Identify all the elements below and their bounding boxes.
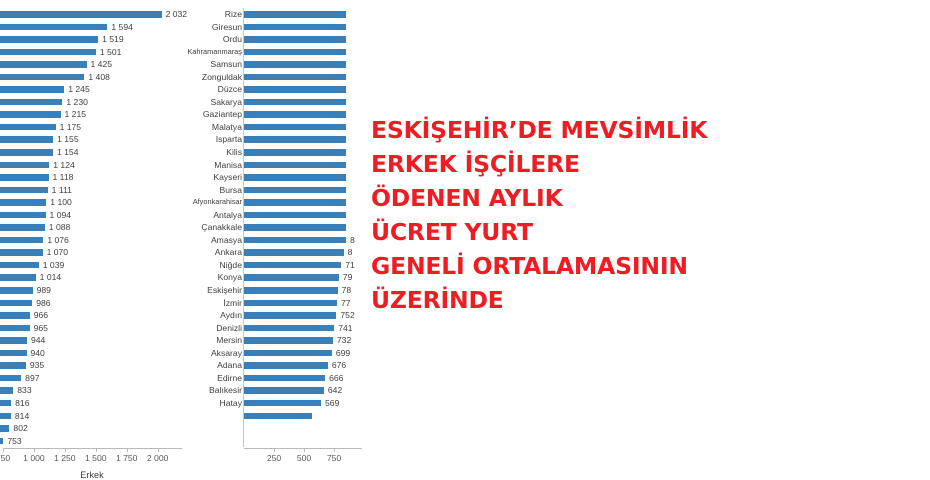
kadin-value-label: 666 xyxy=(329,372,343,385)
category-label: Bursa xyxy=(176,184,246,197)
category-label: Kilis xyxy=(176,146,246,159)
erkek-bar xyxy=(0,49,96,56)
erkek-bar-row: 802 xyxy=(0,422,200,435)
kadin-value-label: 732 xyxy=(337,334,351,347)
erkek-value-label: 1 501 xyxy=(100,46,122,59)
kadin-bar xyxy=(244,274,339,281)
erkek-value-label: 940 xyxy=(31,347,45,360)
erkek-bar-row: 940 xyxy=(0,347,200,360)
erkek-bar-row: 814 xyxy=(0,410,200,423)
kadin-value-label: 8 xyxy=(348,246,353,259)
erkek-bar-row: 816 xyxy=(0,397,200,410)
kadin-bar xyxy=(244,149,346,156)
erkek-value-label: 1 245 xyxy=(68,83,90,96)
erkek-bar-row: 1 408 xyxy=(0,71,200,84)
erkek-bar xyxy=(0,262,39,269)
erkek-x-tick xyxy=(158,449,159,452)
erkek-x-tick xyxy=(96,449,97,452)
erkek-x-tick xyxy=(127,449,128,452)
kadin-x-tick-label: 250 xyxy=(267,453,281,463)
bar-chart-erkek: 2 0321 5941 5191 5011 4251 4081 2451 230… xyxy=(0,0,200,459)
category-label: Antalya xyxy=(176,209,246,222)
category-label: Kayseri xyxy=(176,171,246,184)
erkek-bar xyxy=(0,24,107,31)
kadin-value-label: 699 xyxy=(336,347,350,360)
kadin-value-label: 77 xyxy=(341,297,351,310)
erkek-bar-row: 1 094 xyxy=(0,209,200,222)
category-label: İzmir xyxy=(176,297,246,310)
erkek-bar xyxy=(0,287,33,294)
erkek-value-label: 753 xyxy=(7,435,21,448)
kadin-bar xyxy=(244,249,344,256)
kadin-bar xyxy=(244,237,346,244)
kadin-x-tick-label: 500 xyxy=(297,453,311,463)
erkek-bar-row: 1 070 xyxy=(0,246,200,259)
category-label: Manisa xyxy=(176,159,246,172)
erkek-bar-row: 1 118 xyxy=(0,171,200,184)
erkek-bar xyxy=(0,237,43,244)
erkek-value-label: 1 094 xyxy=(50,209,72,222)
erkek-value-label: 814 xyxy=(15,410,29,423)
category-label: Adana xyxy=(176,359,246,372)
kadin-x-axis: 250500750 xyxy=(244,448,362,449)
kadin-value-label: 676 xyxy=(332,359,346,372)
kadin-bar xyxy=(244,337,333,344)
kadin-bar xyxy=(244,199,346,206)
kadin-bar xyxy=(244,61,346,68)
kadin-bar xyxy=(244,413,312,420)
kadin-bar xyxy=(244,325,334,332)
headline-line: ÜZERİNDE xyxy=(371,283,771,317)
erkek-value-label: 1 014 xyxy=(40,271,62,284)
erkek-value-label: 833 xyxy=(17,384,31,397)
category-label: Afyonkarahisar xyxy=(176,196,246,209)
erkek-bar xyxy=(0,387,13,394)
kadin-bar xyxy=(244,124,346,131)
erkek-bar xyxy=(0,187,48,194)
category-label: Aydın xyxy=(176,309,246,322)
erkek-bar-row: 944 xyxy=(0,334,200,347)
kadin-value-label: 79 xyxy=(343,271,353,284)
erkek-bar xyxy=(0,350,27,357)
category-label: Çanakkale xyxy=(176,221,246,234)
headline-line: ÜCRET YURT xyxy=(371,215,771,249)
erkek-bar xyxy=(0,61,87,68)
kadin-bar xyxy=(244,24,346,31)
erkek-value-label: 1 594 xyxy=(111,21,133,34)
erkek-bar xyxy=(0,400,11,407)
headline-line: ERKEK İŞÇİLERE xyxy=(371,147,771,181)
category-label: Denizli xyxy=(176,322,246,335)
category-label: Aksaray xyxy=(176,347,246,360)
kadin-bar xyxy=(244,300,337,307)
category-label: Eskişehir xyxy=(176,284,246,297)
erkek-bar-row: 966 xyxy=(0,309,200,322)
erkek-bar-row: 1 014 xyxy=(0,271,200,284)
erkek-x-tick xyxy=(34,449,35,452)
erkek-value-label: 802 xyxy=(13,422,27,435)
kadin-bar xyxy=(244,400,321,407)
erkek-bar xyxy=(0,162,49,169)
erkek-bar-row: 1 501 xyxy=(0,46,200,59)
erkek-x-tick-label: 1 250 xyxy=(54,453,76,463)
erkek-value-label: 1 408 xyxy=(88,71,110,84)
category-label: Malatya xyxy=(176,121,246,134)
erkek-value-label: 986 xyxy=(36,297,50,310)
erkek-value-label: 1 175 xyxy=(60,121,82,134)
erkek-bar xyxy=(0,375,21,382)
kadin-value-label: 569 xyxy=(325,397,339,410)
erkek-bar xyxy=(0,199,46,206)
erkek-bar xyxy=(0,11,162,18)
kadin-x-tick xyxy=(334,449,335,452)
erkek-value-label: 897 xyxy=(25,372,39,385)
infographic-root: 2 0321 5941 5191 5011 4251 4081 2451 230… xyxy=(0,0,930,459)
category-label: Zonguldak xyxy=(176,71,246,84)
kadin-bar xyxy=(244,350,332,357)
erkek-bar-row: 753 xyxy=(0,435,200,448)
kadin-bar xyxy=(244,387,324,394)
erkek-value-label: 1 154 xyxy=(57,146,79,159)
erkek-bar-row: 1 155 xyxy=(0,133,200,146)
kadin-bar xyxy=(244,224,346,231)
erkek-bar-row: 1 245 xyxy=(0,83,200,96)
erkek-value-label: 1 039 xyxy=(43,259,65,272)
category-label: Ankara xyxy=(176,246,246,259)
erkek-bar xyxy=(0,74,84,81)
erkek-x-tick xyxy=(3,449,4,452)
category-label: Sakarya xyxy=(176,96,246,109)
headline-line: ÖDENEN AYLIK xyxy=(371,181,771,215)
erkek-bar-row: 897 xyxy=(0,372,200,385)
category-label: Giresun xyxy=(176,21,246,34)
erkek-bar-row: 1 594 xyxy=(0,21,200,34)
kadin-bar xyxy=(244,74,346,81)
erkek-bar xyxy=(0,274,36,281)
erkek-value-label: 1 118 xyxy=(53,171,74,184)
kadin-bar xyxy=(244,86,346,93)
kadin-bar xyxy=(244,174,346,181)
category-label: Mersin xyxy=(176,334,246,347)
erkek-x-tick xyxy=(65,449,66,452)
erkek-bar xyxy=(0,413,11,420)
kadin-value-label: 71 xyxy=(345,259,355,272)
category-label: Amasya xyxy=(176,234,246,247)
category-label: Hatay xyxy=(176,397,246,410)
kadin-bar xyxy=(244,375,325,382)
kadin-bar xyxy=(244,36,346,43)
erkek-value-label: 1 088 xyxy=(49,221,71,234)
kadin-bar xyxy=(244,49,346,56)
kadin-bar xyxy=(244,362,328,369)
erkek-bar xyxy=(0,300,32,307)
erkek-value-label: 965 xyxy=(34,322,48,335)
category-label: Ordu xyxy=(176,33,246,46)
kadin-bar xyxy=(244,287,338,294)
erkek-bar-row: 1 111 xyxy=(0,184,200,197)
erkek-bar-row: 1 076 xyxy=(0,234,200,247)
erkek-value-label: 1 425 xyxy=(91,58,113,71)
erkek-bar-row: 1 088 xyxy=(0,221,200,234)
erkek-bar-row: 989 xyxy=(0,284,200,297)
erkek-bar xyxy=(0,212,46,219)
kadin-bar xyxy=(244,212,346,219)
category-label: Rize xyxy=(176,8,246,21)
kadin-x-tick-label: 750 xyxy=(327,453,341,463)
kadin-value-label: 8 xyxy=(350,234,355,247)
erkek-value-label: 1 070 xyxy=(47,246,69,259)
kadin-value-label: 741 xyxy=(338,322,352,335)
category-label: Edirne xyxy=(176,372,246,385)
erkek-bar xyxy=(0,312,30,319)
kadin-value-label: 78 xyxy=(342,284,352,297)
erkek-value-label: 966 xyxy=(34,309,48,322)
category-label: Niğde xyxy=(176,259,246,272)
erkek-bar-row: 1 215 xyxy=(0,108,200,121)
erkek-bar xyxy=(0,111,61,118)
kadin-bar xyxy=(244,99,346,106)
erkek-x-tick-label: 1 500 xyxy=(85,453,107,463)
category-label: Samsun xyxy=(176,58,246,71)
erkek-bar xyxy=(0,174,49,181)
erkek-bar-row: 2 032 xyxy=(0,8,200,21)
erkek-x-tick-label: 2 000 xyxy=(147,453,169,463)
kadin-bar xyxy=(244,162,346,169)
erkek-x-axis: 7501 0001 2501 5001 7502 000 xyxy=(3,448,182,449)
category-label: Düzce xyxy=(176,83,246,96)
category-label: Isparta xyxy=(176,133,246,146)
erkek-value-label: 944 xyxy=(31,334,45,347)
erkek-value-label: 1 230 xyxy=(66,96,88,109)
erkek-value-label: 1 100 xyxy=(50,196,72,209)
erkek-value-label: 989 xyxy=(37,284,51,297)
erkek-bar-row: 965 xyxy=(0,322,200,335)
headline-line: GENELİ ORTALAMASININ xyxy=(371,249,771,283)
kadin-bar xyxy=(244,262,341,269)
headline-panel: ESKİŞEHİR’DE MEVSİMLİKERKEK İŞÇİLEREÖDEN… xyxy=(363,0,930,459)
erkek-bar-row: 833 xyxy=(0,384,200,397)
kadin-bar xyxy=(244,111,346,118)
category-label: Konya xyxy=(176,271,246,284)
erkek-bar xyxy=(0,438,3,445)
erkek-x-tick-label: 750 xyxy=(0,453,10,463)
kadin-bar xyxy=(244,11,346,18)
erkek-bar-row: 1 039 xyxy=(0,259,200,272)
erkek-value-label: 1 076 xyxy=(47,234,69,247)
erkek-bar-row: 1 124 xyxy=(0,159,200,172)
erkek-value-label: 1 124 xyxy=(53,159,75,172)
erkek-bar xyxy=(0,86,64,93)
erkek-bar xyxy=(0,149,53,156)
erkek-bar xyxy=(0,99,62,106)
erkek-bar xyxy=(0,136,53,143)
erkek-bar xyxy=(0,249,43,256)
erkek-axis-title: Erkek xyxy=(0,470,184,480)
erkek-bar xyxy=(0,325,30,332)
erkek-bar-row: 986 xyxy=(0,297,200,310)
erkek-x-tick-label: 1 750 xyxy=(116,453,138,463)
kadin-bar xyxy=(244,187,346,194)
erkek-bar xyxy=(0,337,27,344)
erkek-value-label: 1 519 xyxy=(102,33,124,46)
kadin-value-label: 752 xyxy=(340,309,354,322)
erkek-value-label: 816 xyxy=(15,397,29,410)
erkek-x-tick-label: 1 000 xyxy=(23,453,45,463)
category-label: Balıkesir xyxy=(176,384,246,397)
kadin-x-tick xyxy=(274,449,275,452)
kadin-x-tick xyxy=(304,449,305,452)
category-label: Kahramanmaraş xyxy=(176,46,246,59)
erkek-bar-row: 935 xyxy=(0,359,200,372)
erkek-value-label: 935 xyxy=(30,359,44,372)
headline-text: ESKİŞEHİR’DE MEVSİMLİKERKEK İŞÇİLEREÖDEN… xyxy=(371,113,771,317)
erkek-value-label: 1 215 xyxy=(65,108,87,121)
category-label: Gaziantep xyxy=(176,108,246,121)
erkek-bar xyxy=(0,425,9,432)
erkek-value-label: 1 155 xyxy=(57,133,79,146)
erkek-bar xyxy=(0,224,45,231)
kadin-bar xyxy=(244,312,336,319)
erkek-bar-row: 1 100 xyxy=(0,196,200,209)
category-label-column: RizeGiresunOrduKahramanmaraşSamsunZongul… xyxy=(176,8,246,410)
kadin-y-axis-spine xyxy=(243,8,244,447)
erkek-bar-row: 1 230 xyxy=(0,96,200,109)
erkek-bar xyxy=(0,36,98,43)
erkek-bar-row: 1 154 xyxy=(0,146,200,159)
erkek-bar-row: 1 175 xyxy=(0,121,200,134)
kadin-value-label: 642 xyxy=(328,384,342,397)
erkek-bar xyxy=(0,124,56,131)
erkek-bar xyxy=(0,362,26,369)
erkek-bar-row: 1 519 xyxy=(0,33,200,46)
erkek-bar-rows: 2 0321 5941 5191 5011 4251 4081 2451 230… xyxy=(0,8,200,447)
headline-line: ESKİŞEHİR’DE MEVSİMLİK xyxy=(371,113,771,147)
erkek-bar-row: 1 425 xyxy=(0,58,200,71)
kadin-bar xyxy=(244,136,346,143)
erkek-value-label: 1 111 xyxy=(52,184,72,197)
